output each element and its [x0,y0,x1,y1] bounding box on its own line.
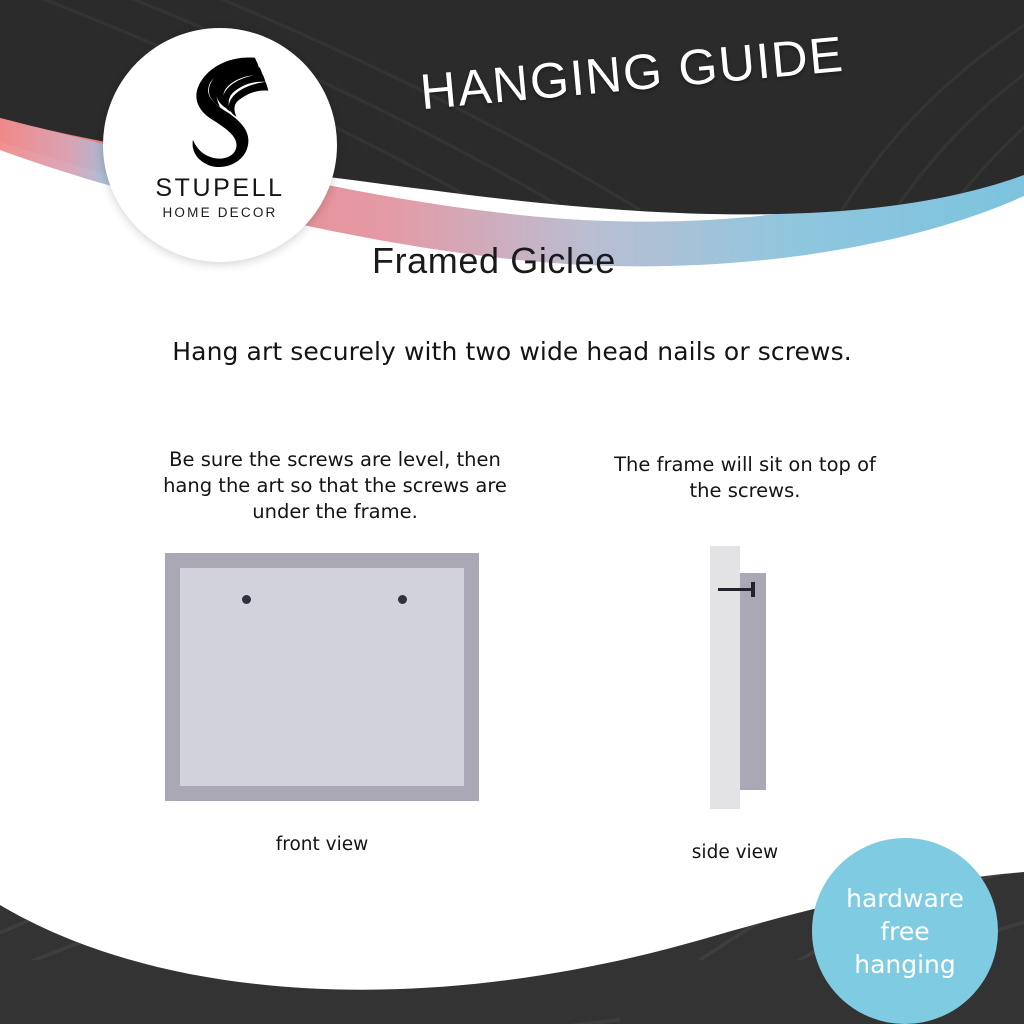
hardware-free-hanging-badge: hardware free hanging [812,838,998,1024]
side-view-frame-bar [740,573,766,790]
badge-line-1: hardware [846,882,964,915]
logo-wordmark: STUPELL [155,174,284,203]
stupell-s-swoosh-icon [162,50,278,168]
side-view-nail-head [751,582,755,597]
front-view-caption: Be sure the screws are level, then hang … [160,447,510,525]
badge-line-3: hanging [854,948,956,981]
logo-tagline: HOME DECOR [162,205,277,220]
hanging-guide-page: HANGING GUIDE STUPELL HOME DECOR Framed … [0,0,1024,1024]
product-type-label: Framed Giclee [372,240,616,282]
screw-dot-left [242,595,251,604]
front-view-frame-diagram [165,553,479,801]
brand-logo-badge: STUPELL HOME DECOR [103,28,337,262]
front-view-label: front view [182,834,462,855]
page-title: HANGING GUIDE [370,21,893,126]
badge-line-2: free [880,915,929,948]
front-view-artwork-panel [180,568,464,786]
side-view-caption: The frame will sit on top of the screws. [600,452,890,504]
side-view-wall [710,546,740,809]
side-view-label: side view [645,842,825,863]
side-view-nail-shaft [718,588,754,591]
screw-dot-right [398,595,407,604]
main-instruction-text: Hang art securely with two wide head nai… [0,337,1024,366]
